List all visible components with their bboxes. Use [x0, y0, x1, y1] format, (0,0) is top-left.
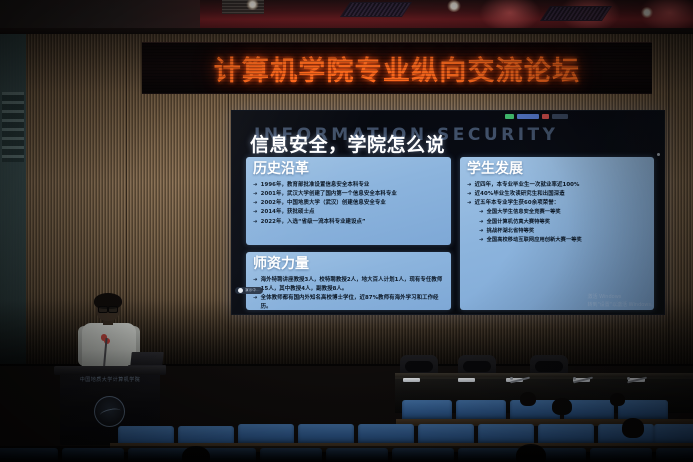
- status-chip-blue: [517, 114, 539, 119]
- card-students-bullets: ➜近四年，本专业毕业生一次就业率近100% ➜近40%毕业生攻读研究生和出国深造…: [467, 181, 647, 209]
- arrow-icon: ➜: [479, 236, 484, 245]
- arrow-icon: ➜: [253, 208, 258, 217]
- glasses-icon: [98, 306, 118, 311]
- slide-status-chips: [505, 114, 568, 119]
- wall-louver-vent: [2, 92, 24, 162]
- projection-screen: INFORMATION SECURITY 信息安全，学院怎么说 历史沿革 ➜19…: [231, 110, 665, 315]
- card-students-heading: 学生发展: [467, 161, 647, 179]
- activation-line-1: 激活 Windows: [587, 294, 656, 302]
- list-item: ➜全体教师都有国内外知名高校博士学位，近87%教师有海外学习和工作经历。: [253, 294, 444, 310]
- ceiling-panel: [340, 2, 412, 17]
- card-students: 学生发展 ➜近四年，本专业毕业生一次就业率近100% ➜近40%毕业生攻读研究生…: [460, 157, 654, 310]
- card-students-sub-bullets: ➜全国大学生信息安全竞赛一等奖 ➜全国计算机仿真大赛特等奖 ➜挑战杯湖北省特等奖…: [479, 208, 647, 245]
- card-faculty: 师资力量 ➜海外特聘讲座教授3人，校特聘教授2人，地大百人计划1人，现有专任教师…: [246, 252, 451, 310]
- slide-left-column: 历史沿革 ➜1996年，教育部批准设置信息安全本科专业 ➜2001年，武汉大学创…: [246, 157, 451, 310]
- arrow-icon: ➜: [467, 181, 472, 190]
- ceiling-panel: [540, 6, 612, 21]
- bullet-text: 2014年，获批硕士点: [261, 208, 444, 217]
- arrow-icon: ➜: [253, 181, 258, 190]
- podium-institution-text: 中国地质大学计算机学院: [60, 376, 160, 383]
- name-plate: [458, 378, 475, 382]
- seat: [654, 424, 693, 444]
- seat: [478, 424, 534, 444]
- bullet-text: 挑战杯湖北省特等奖: [487, 227, 647, 236]
- presenter-badge: 演示中…: [235, 287, 263, 294]
- list-item: ➜2001年，武汉大学创建了国内第一个信息安全本科专业: [253, 190, 444, 199]
- list-item: ➜1996年，教育部批准设置信息安全本科专业: [253, 181, 444, 190]
- seat: [402, 400, 452, 420]
- table-microphone: [510, 372, 532, 380]
- windows-activation-watermark: 激活 Windows 转到"设置"以激活 Windows。: [587, 294, 656, 309]
- audience-head: [610, 393, 625, 406]
- list-item: ➜全国高校移动互联网应用创新大赛一等奖: [479, 236, 647, 245]
- bullet-text: 全国高校移动互联网应用创新大赛一等奖: [487, 236, 647, 245]
- presentation-slide: INFORMATION SECURITY 信息安全，学院怎么说 历史沿革 ➜19…: [232, 111, 664, 314]
- audience-head: [552, 398, 572, 415]
- list-item: ➜全国大学生信息安全竞赛一等奖: [479, 208, 647, 217]
- list-item: ➜2022年，入选“省级一流本科专业建设点”: [253, 218, 444, 227]
- slide-title: 信息安全，学院怎么说: [250, 130, 445, 157]
- badge-label: 演示中…: [245, 288, 260, 293]
- slide-content: 历史沿革 ➜1996年，教育部批准设置信息安全本科专业 ➜2001年，武汉大学创…: [246, 157, 654, 310]
- list-item: ➜2002年，中国地质大学（武汉）创建信息安全专业: [253, 199, 444, 208]
- arrow-icon: ➜: [253, 294, 258, 303]
- seat: [298, 424, 354, 444]
- list-item: ➜近五年本专业学生获60余项荣誉：: [467, 199, 647, 208]
- list-item: ➜2014年，获批硕士点: [253, 208, 444, 217]
- podium-top-surface: [54, 366, 166, 375]
- list-item: ➜近四年，本专业毕业生一次就业率近100%: [467, 181, 647, 190]
- arrow-icon: ➜: [253, 199, 258, 208]
- bullet-text: 全体教师都有国内外知名高校博士学位，近87%教师有海外学习和工作经历。: [261, 294, 444, 310]
- list-item: ➜挑战杯湖北省特等奖: [479, 227, 647, 236]
- floor-shadow: [0, 446, 693, 462]
- activation-line-2: 转到"设置"以激活 Windows。: [587, 302, 656, 310]
- card-history: 历史沿革 ➜1996年，教育部批准设置信息安全本科专业 ➜2001年，武汉大学创…: [246, 157, 451, 245]
- audience-head: [520, 392, 536, 406]
- led-banner: 计算机学院专业纵向交流论坛: [142, 42, 652, 94]
- seat: [538, 424, 594, 444]
- card-faculty-heading: 师资力量: [253, 256, 444, 274]
- bullet-text: 全国大学生信息安全竞赛一等奖: [487, 208, 647, 217]
- seat: [418, 424, 474, 444]
- ceiling-spotlight: [447, 0, 461, 12]
- seat: [238, 424, 294, 444]
- screen-indicator-dot: [657, 153, 660, 156]
- audience-head: [622, 418, 644, 438]
- arrow-icon: ➜: [479, 218, 484, 227]
- bullet-text: 海外特聘讲座教授3人，校特聘教授2人，地大百人计划1人，现有专任教师15人，其中…: [261, 276, 444, 295]
- list-item: ➜近40%毕业生攻读研究生和出国深造: [467, 190, 647, 199]
- bullet-text: 2002年，中国地质大学（武汉）创建信息安全专业: [261, 199, 444, 208]
- seat: [358, 424, 414, 444]
- table-microphone: [573, 372, 595, 380]
- arrow-icon: ➜: [467, 190, 472, 199]
- lecture-hall-photo: 计算机学院专业纵向交流论坛 INFORMATION SECURITY 信息安全，…: [0, 0, 693, 462]
- arrow-icon: ➜: [253, 218, 258, 227]
- bullet-text: 近40%毕业生攻读研究生和出国深造: [475, 190, 647, 199]
- bullet-text: 近四年，本专业毕业生一次就业率近100%: [475, 181, 647, 190]
- led-banner-text: 计算机学院专业纵向交流论坛: [214, 49, 581, 88]
- badge-dot-icon: [238, 288, 243, 293]
- arrow-icon: ➜: [467, 199, 472, 208]
- table-microphone: [627, 372, 649, 380]
- seat: [456, 400, 506, 420]
- status-chip-red: [542, 114, 549, 119]
- card-history-bullets: ➜1996年，教育部批准设置信息安全本科专业 ➜2001年，武汉大学创建了国内第…: [253, 181, 444, 227]
- laptop-screen: [130, 352, 163, 366]
- arrow-icon: ➜: [479, 208, 484, 217]
- status-chip-green: [505, 114, 514, 119]
- arrow-icon: ➜: [479, 227, 484, 236]
- list-item: ➜全国计算机仿真大赛特等奖: [479, 218, 647, 227]
- bullet-text: 1996年，教育部批准设置信息安全本科专业: [261, 181, 444, 190]
- bullet-text: 2022年，入选“省级一流本科专业建设点”: [261, 218, 444, 227]
- card-history-heading: 历史沿革: [253, 161, 444, 179]
- arrow-icon: ➜: [253, 190, 258, 199]
- ceiling-spotlight: [641, 7, 653, 18]
- status-chip-gray: [552, 114, 568, 119]
- card-faculty-bullets: ➜海外特聘讲座教授3人，校特聘教授2人，地大百人计划1人，现有专任教师15人，其…: [253, 276, 444, 311]
- bullet-text: 全国计算机仿真大赛特等奖: [487, 218, 647, 227]
- bullet-text: 近五年本专业学生获60余项荣誉：: [475, 199, 647, 208]
- seat: [618, 400, 668, 420]
- name-plate: [403, 378, 420, 382]
- bullet-text: 2001年，武汉大学创建了国内第一个信息安全本科专业: [261, 190, 444, 199]
- slide-right-column: 学生发展 ➜近四年，本专业毕业生一次就业率近100% ➜近40%毕业生攻读研究生…: [460, 157, 654, 310]
- arrow-icon: ➜: [253, 276, 258, 285]
- list-item: ➜海外特聘讲座教授3人，校特聘教授2人，地大百人计划1人，现有专任教师15人，其…: [253, 276, 444, 295]
